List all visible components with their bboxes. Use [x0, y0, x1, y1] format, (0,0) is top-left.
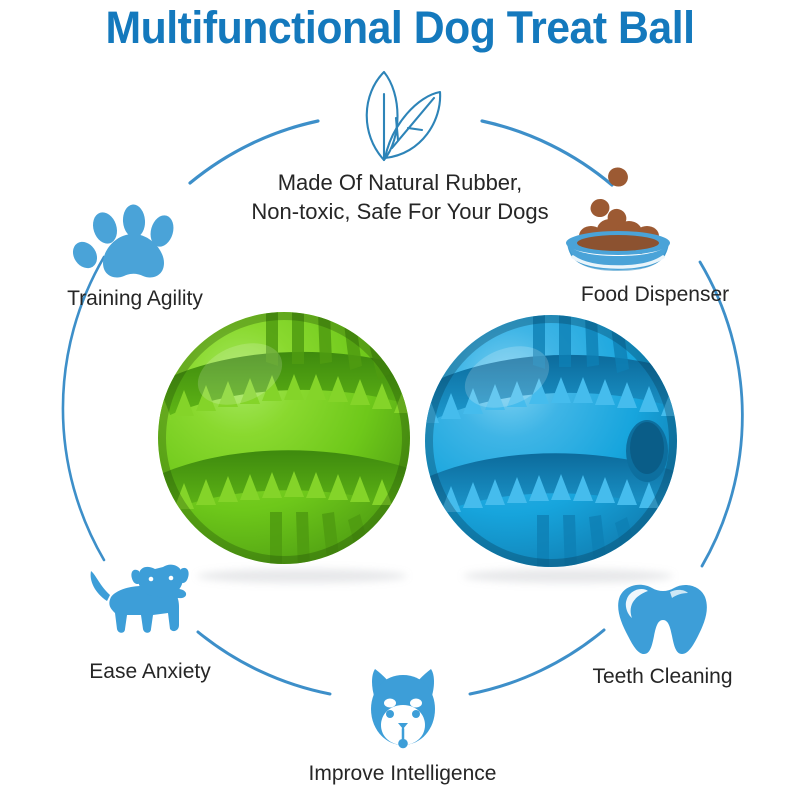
arc-right — [700, 262, 742, 566]
tooth-icon — [560, 580, 765, 665]
feature-food-dispenser: Food Dispenser — [555, 160, 755, 307]
feature-label-improve-intelligence: Improve Intelligence — [295, 762, 510, 786]
ball-shadow-green — [197, 569, 407, 583]
leaves-icon — [344, 68, 456, 169]
green-ball — [158, 312, 410, 564]
feature-label-ease-anxiety: Ease Anxiety — [55, 660, 245, 684]
blue-ball — [425, 315, 677, 567]
feature-improve-intelligence: Improve Intelligence — [295, 665, 510, 786]
product-image — [140, 300, 680, 585]
dog-face-icon — [295, 665, 510, 762]
infographic-canvas: Multifunctional Dog Treat Ball — [0, 0, 800, 800]
dog-bowl-with-kibble-icon — [555, 160, 755, 283]
feature-label-teeth-cleaning: Teeth Cleaning — [560, 665, 765, 689]
feature-teeth-cleaning: Teeth Cleaning — [560, 580, 765, 689]
ball-shadow-blue — [463, 569, 673, 583]
paw-print-icon — [40, 200, 230, 287]
feature-training-agility: Training Agility — [40, 200, 230, 311]
